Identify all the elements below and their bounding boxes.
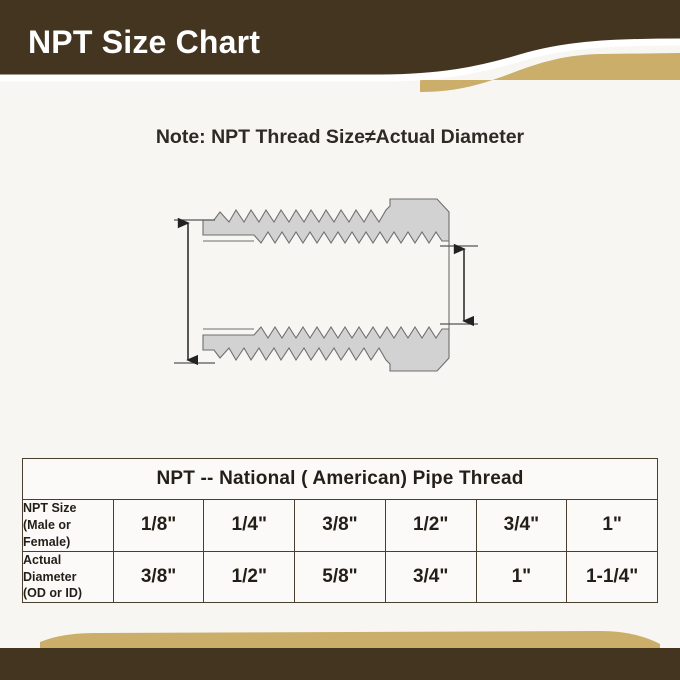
cell-npt-size-2: 3/8" [295,500,386,552]
row-label-line2: (OD or ID) [23,585,113,602]
table-row: Actual Diameter (OD or ID) 3/8" 1/2" 5/8… [23,551,658,603]
row-label-line2: (Male or Female) [23,517,113,551]
note-text: Note: NPT Thread Size≠Actual Diameter [0,126,680,149]
cell-actual-diameter-0: 3/8" [113,551,204,603]
fitting-lower-wall [203,327,449,371]
footer-gold-curve [40,631,660,650]
cell-actual-diameter-2: 5/8" [295,551,386,603]
pipe-fitting-diagram: O.D (Male End) I.D (Female End) [0,195,680,410]
footer-banner-graphic [0,606,680,680]
cell-npt-size-5: 1" [567,500,658,552]
page-footer [0,606,680,680]
cell-actual-diameter-3: 3/4" [385,551,476,603]
cell-npt-size-4: 3/4" [476,500,567,552]
page-title: NPT Size Chart [28,24,260,61]
row-label-npt-size: NPT Size (Male or Female) [23,500,114,552]
fitting-upper-wall [203,199,449,243]
id-dimension [440,246,478,324]
cell-npt-size-0: 1/8" [113,500,204,552]
cell-actual-diameter-4: 1" [476,551,567,603]
table-header-row: NPT -- National ( American) Pipe Thread [23,459,658,500]
row-label-actual-diameter: Actual Diameter (OD or ID) [23,551,114,603]
footer-dark-bar [0,648,680,680]
cell-actual-diameter-1: 1/2" [204,551,295,603]
table-title: NPT -- National ( American) Pipe Thread [23,459,658,500]
cell-npt-size-3: 1/2" [385,500,476,552]
pipe-fitting-graphic [0,195,680,410]
table-row: NPT Size (Male or Female) 1/8" 1/4" 3/8"… [23,500,658,552]
row-label-line1: NPT Size [23,500,113,517]
npt-size-chart-page: NPT Size Chart Note: NPT Thread Size≠Act… [0,0,680,680]
cell-actual-diameter-5: 1-1/4" [567,551,658,603]
row-label-line1: Actual Diameter [23,552,113,586]
page-header: NPT Size Chart [0,0,680,92]
cell-npt-size-1: 1/4" [204,500,295,552]
npt-table-container: NPT -- National ( American) Pipe Thread … [22,458,658,603]
npt-table: NPT -- National ( American) Pipe Thread … [22,458,658,603]
